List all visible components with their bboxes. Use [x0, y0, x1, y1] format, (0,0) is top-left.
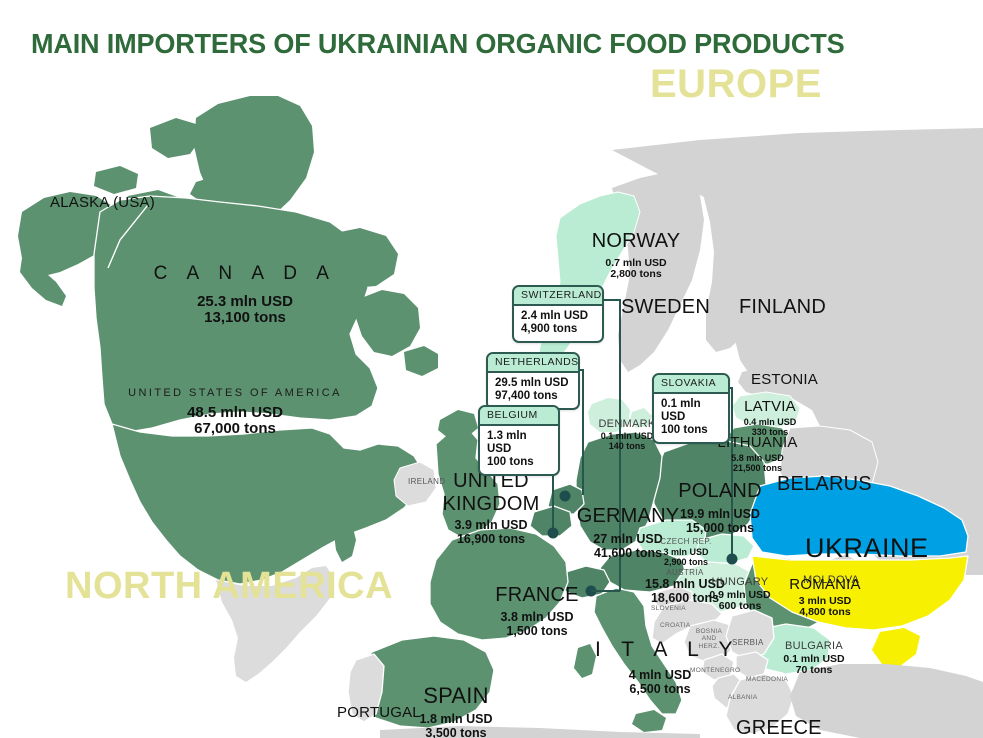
czech-volume: 2,900 tons [638, 558, 734, 568]
bulgaria-volume: 70 tons [762, 665, 866, 676]
label-finland: FINLAND [739, 296, 826, 319]
spain-volume: 3,500 tons [398, 727, 514, 738]
country-name-france: FRANCE [480, 584, 594, 607]
label-uk: UNITED KINGDOM 3.9 mln USD 16,900 tons [432, 470, 550, 546]
canada-newfoundland [404, 346, 438, 376]
country-ukraine-crimea [872, 628, 920, 666]
country-name-bulgaria: BULGARIA [762, 640, 866, 652]
country-name-uk-line2: KINGDOM [432, 493, 550, 516]
label-sweden: SWEDEN [621, 296, 710, 319]
country-name-portugal: PORTUGAL [337, 704, 421, 721]
continent-label-north-america: NORTH AMERICA [65, 565, 393, 608]
country-name-canada: C A N A D A [140, 263, 350, 285]
callout-body-switzerland: 2.4 mln USD 4,900 tons [514, 306, 602, 341]
country-name-macedonia: MACEDONIA [746, 676, 788, 683]
belgium-volume: 100 tons [487, 456, 551, 469]
callout-body-slovakia: 0.1 mln USD 100 tons [654, 394, 728, 442]
netherlands-volume: 97,400 tons [495, 390, 571, 403]
label-greece: GREECE [736, 717, 822, 738]
label-ireland: IRELAND [408, 477, 445, 486]
island-ellesmere [150, 118, 200, 158]
country-name-bosnia-line1: BOSNIA [684, 628, 734, 635]
country-name-alaska: ALASKA (USA) [50, 194, 155, 211]
label-canada: C A N A D A 25.3 mln USD 13,100 tons [140, 263, 350, 326]
norway-volume: 2,800 tons [576, 269, 696, 280]
country-name-czech: CZECH REP. [638, 537, 734, 546]
dot-netherlands [560, 491, 571, 502]
callout-netherlands[interactable]: NETHERLANDS 29.5 mln USD 97,400 tons [486, 352, 580, 410]
country-name-bosnia-line2: AND [684, 635, 734, 642]
callout-header-belgium: BELGIUM [480, 407, 558, 426]
label-serbia: SERBIA [732, 638, 764, 647]
romania-volume: 4,800 tons [770, 607, 880, 618]
label-slovenia: SLOVENIA [651, 605, 686, 612]
belgium-value: 1.3 mln USD [487, 430, 551, 456]
label-bosnia: BOSNIA AND HERZ. [684, 628, 734, 650]
label-alaska: ALASKA (USA) [50, 194, 155, 211]
callout-body-netherlands: 29.5 mln USD 97,400 tons [488, 373, 578, 408]
country-name-romania: ROMANIA [770, 576, 880, 593]
netherlands-value: 29.5 mln USD [495, 377, 571, 390]
country-name-sweden: SWEDEN [621, 296, 710, 319]
usa-value: 48.5 mln USD [125, 405, 345, 421]
italy-sardinia [574, 644, 596, 678]
callout-belgium[interactable]: BELGIUM 1.3 mln USD 100 tons [478, 405, 560, 476]
canada-volume: 13,100 tons [140, 310, 350, 326]
island-arctic-1 [94, 166, 138, 194]
callout-switzerland[interactable]: SWITZERLAND 2.4 mln USD 4,900 tons [512, 285, 604, 343]
country-name-finland: FINLAND [739, 296, 826, 319]
label-latvia: LATVIA 0.4 mln USD 330 tons [720, 398, 820, 437]
label-albania: ALBANIA [728, 694, 758, 701]
country-name-bosnia-line3: HERZ. [684, 643, 734, 650]
label-usa: UNITED STATES OF AMERICA 48.5 mln USD 67… [125, 387, 345, 437]
label-estonia: ESTONIA [751, 371, 818, 388]
callout-slovakia[interactable]: SLOVAKIA 0.1 mln USD 100 tons [652, 373, 730, 444]
uk-value: 3.9 mln USD [432, 519, 550, 533]
country-name-estonia: ESTONIA [751, 371, 818, 388]
label-belarus: BELARUS [777, 473, 872, 496]
country-name-poland: POLAND [655, 480, 785, 503]
lithuania-volume: 21,500 tons [700, 464, 815, 474]
label-romania: ROMANIA 3 mln USD 4,800 tons [770, 576, 880, 619]
canada-east [356, 290, 420, 356]
switzerland-value: 2.4 mln USD [521, 310, 595, 323]
country-name-usa: UNITED STATES OF AMERICA [125, 387, 345, 399]
country-name-norway: NORWAY [576, 230, 696, 253]
infographic-map: MAIN IMPORTERS OF UKRAINIAN ORGANIC FOOD… [0, 0, 983, 738]
label-bulgaria: BULGARIA 0.1 mln USD 70 tons [762, 640, 866, 677]
country-name-germany: GERMANY [563, 505, 693, 528]
france-value: 3.8 mln USD [480, 611, 594, 625]
callout-body-belgium: 1.3 mln USD 100 tons [480, 426, 558, 474]
slovakia-volume: 100 tons [661, 424, 721, 437]
label-czech: CZECH REP. 3 mln USD 2,900 tons [638, 537, 734, 567]
canada-value: 25.3 mln USD [140, 294, 350, 310]
label-norway: NORWAY 0.7 mln USD 2,800 tons [576, 230, 696, 281]
label-france: FRANCE 3.8 mln USD 1,500 tons [480, 584, 594, 638]
country-name-ireland: IRELAND [408, 477, 445, 486]
switzerland-volume: 4,900 tons [521, 323, 595, 336]
country-name-serbia: SERBIA [732, 638, 764, 647]
slovakia-value: 0.1 mln USD [661, 398, 721, 424]
callout-header-slovakia: SLOVAKIA [654, 375, 728, 394]
country-name-latvia: LATVIA [720, 398, 820, 415]
country-name-albania: ALBANIA [728, 694, 758, 701]
country-name-ukraine: UKRAINE [805, 533, 929, 564]
callout-header-netherlands: NETHERLANDS [488, 354, 578, 373]
country-name-greece: GREECE [736, 717, 822, 738]
continent-label-europe: EUROPE [650, 62, 822, 107]
country-name-belarus: BELARUS [777, 473, 872, 496]
country-name-slovenia: SLOVENIA [651, 605, 686, 612]
callout-header-switzerland: SWITZERLAND [514, 287, 602, 306]
italy-volume: 6,500 tons [595, 683, 725, 697]
france-volume: 1,500 tons [480, 625, 594, 639]
label-montenegro: MONTENEGRO [690, 667, 740, 674]
country-usa [112, 424, 424, 584]
label-ukraine: UKRAINE [805, 533, 929, 564]
uk-volume: 16,900 tons [432, 533, 550, 547]
country-name-montenegro: MONTENEGRO [690, 667, 740, 674]
label-portugal: PORTUGAL [337, 704, 421, 721]
label-macedonia: MACEDONIA [746, 676, 788, 683]
usa-volume: 67,000 tons [125, 421, 345, 437]
